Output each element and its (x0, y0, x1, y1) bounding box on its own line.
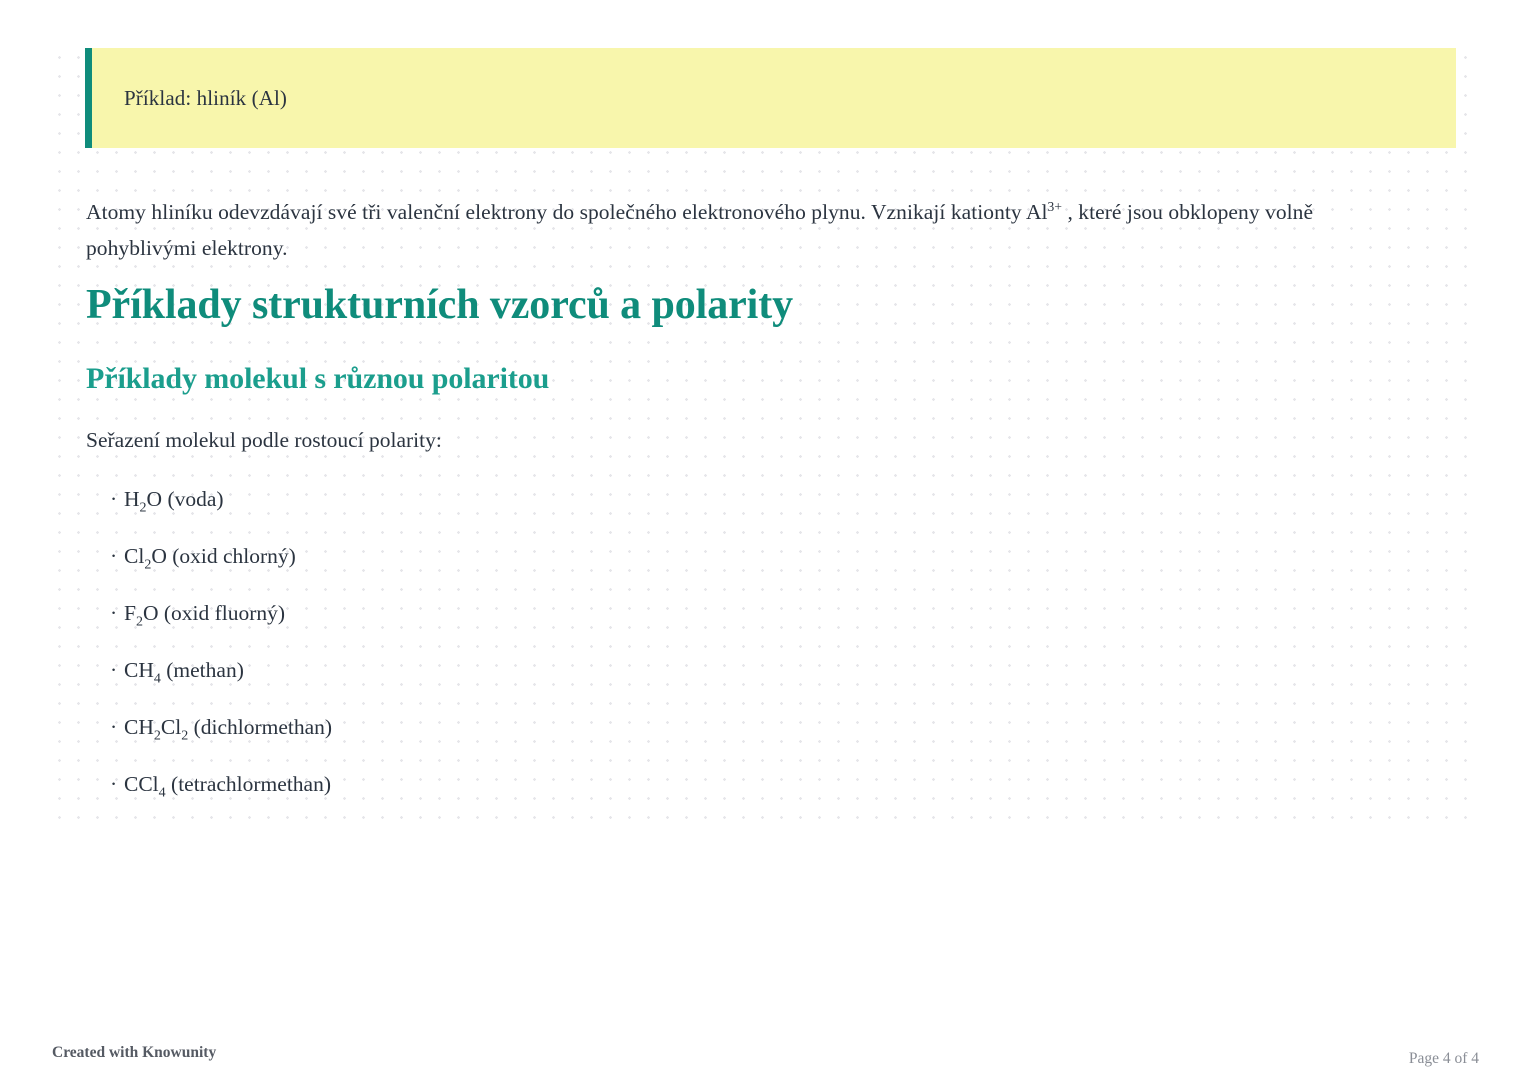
molecule-formula-label: F2O (oxid fluorný) (124, 599, 285, 627)
subsection-heading: Příklady molekul s různou polaritou (86, 362, 549, 396)
formula-subscript: 2 (136, 614, 143, 629)
bullet-dot-icon: · (110, 713, 124, 741)
list-item: ·CH4 (methan) (110, 656, 332, 713)
list-intro-text: Seřazení molekul podle rostoucí polarity… (86, 428, 442, 453)
molecule-list: ·H2O (voda)·Cl2O (oxid chlorný)·F2O (oxi… (110, 485, 332, 827)
molecule-formula-label: Cl2O (oxid chlorný) (124, 542, 296, 570)
molecule-formula-label: CH2Cl2 (dichlormethan) (124, 713, 332, 741)
list-item: ·H2O (voda) (110, 485, 332, 542)
footer-page-indicator: Page 4 of 4 (1409, 1050, 1479, 1068)
bullet-dot-icon: · (110, 599, 124, 627)
list-item: ·Cl2O (oxid chlorný) (110, 542, 332, 599)
molecule-formula-label: H2O (voda) (124, 485, 224, 513)
formula-subscript: 2 (154, 728, 161, 743)
bullet-dot-icon: · (110, 542, 124, 570)
formula-subscript: 4 (159, 785, 166, 800)
callout-label: Příklad: hliník (Al) (92, 86, 287, 111)
formula-subscript: 2 (144, 557, 151, 572)
section-heading: Příklady strukturních vzorců a polarity (86, 281, 793, 329)
document-page: Příklad: hliník (Al) Atomy hliníku odevz… (0, 0, 1527, 1080)
formula-subscript: 2 (140, 500, 147, 515)
charge-superscript: 3+ (1048, 198, 1062, 213)
bullet-dot-icon: · (110, 656, 124, 684)
list-item: ·F2O (oxid fluorný) (110, 599, 332, 656)
molecule-formula-label: CCl4 (tetrachlormethan) (124, 770, 331, 798)
list-item: ·CCl4 (tetrachlormethan) (110, 770, 332, 827)
example-callout-box: Příklad: hliník (Al) (85, 48, 1456, 148)
bullet-dot-icon: · (110, 770, 124, 798)
footer-brand: Created with Knowunity (52, 1044, 216, 1062)
molecule-formula-label: CH4 (methan) (124, 656, 244, 684)
body-paragraph: Atomy hliníku odevzdávají své tři valenč… (86, 194, 1386, 266)
bullet-dot-icon: · (110, 485, 124, 513)
paragraph-text-part-1: Atomy hliníku odevzdávají své tři valenč… (86, 200, 1048, 224)
formula-subscript: 2 (181, 728, 188, 743)
list-item: ·CH2Cl2 (dichlormethan) (110, 713, 332, 770)
formula-subscript: 4 (154, 671, 161, 686)
